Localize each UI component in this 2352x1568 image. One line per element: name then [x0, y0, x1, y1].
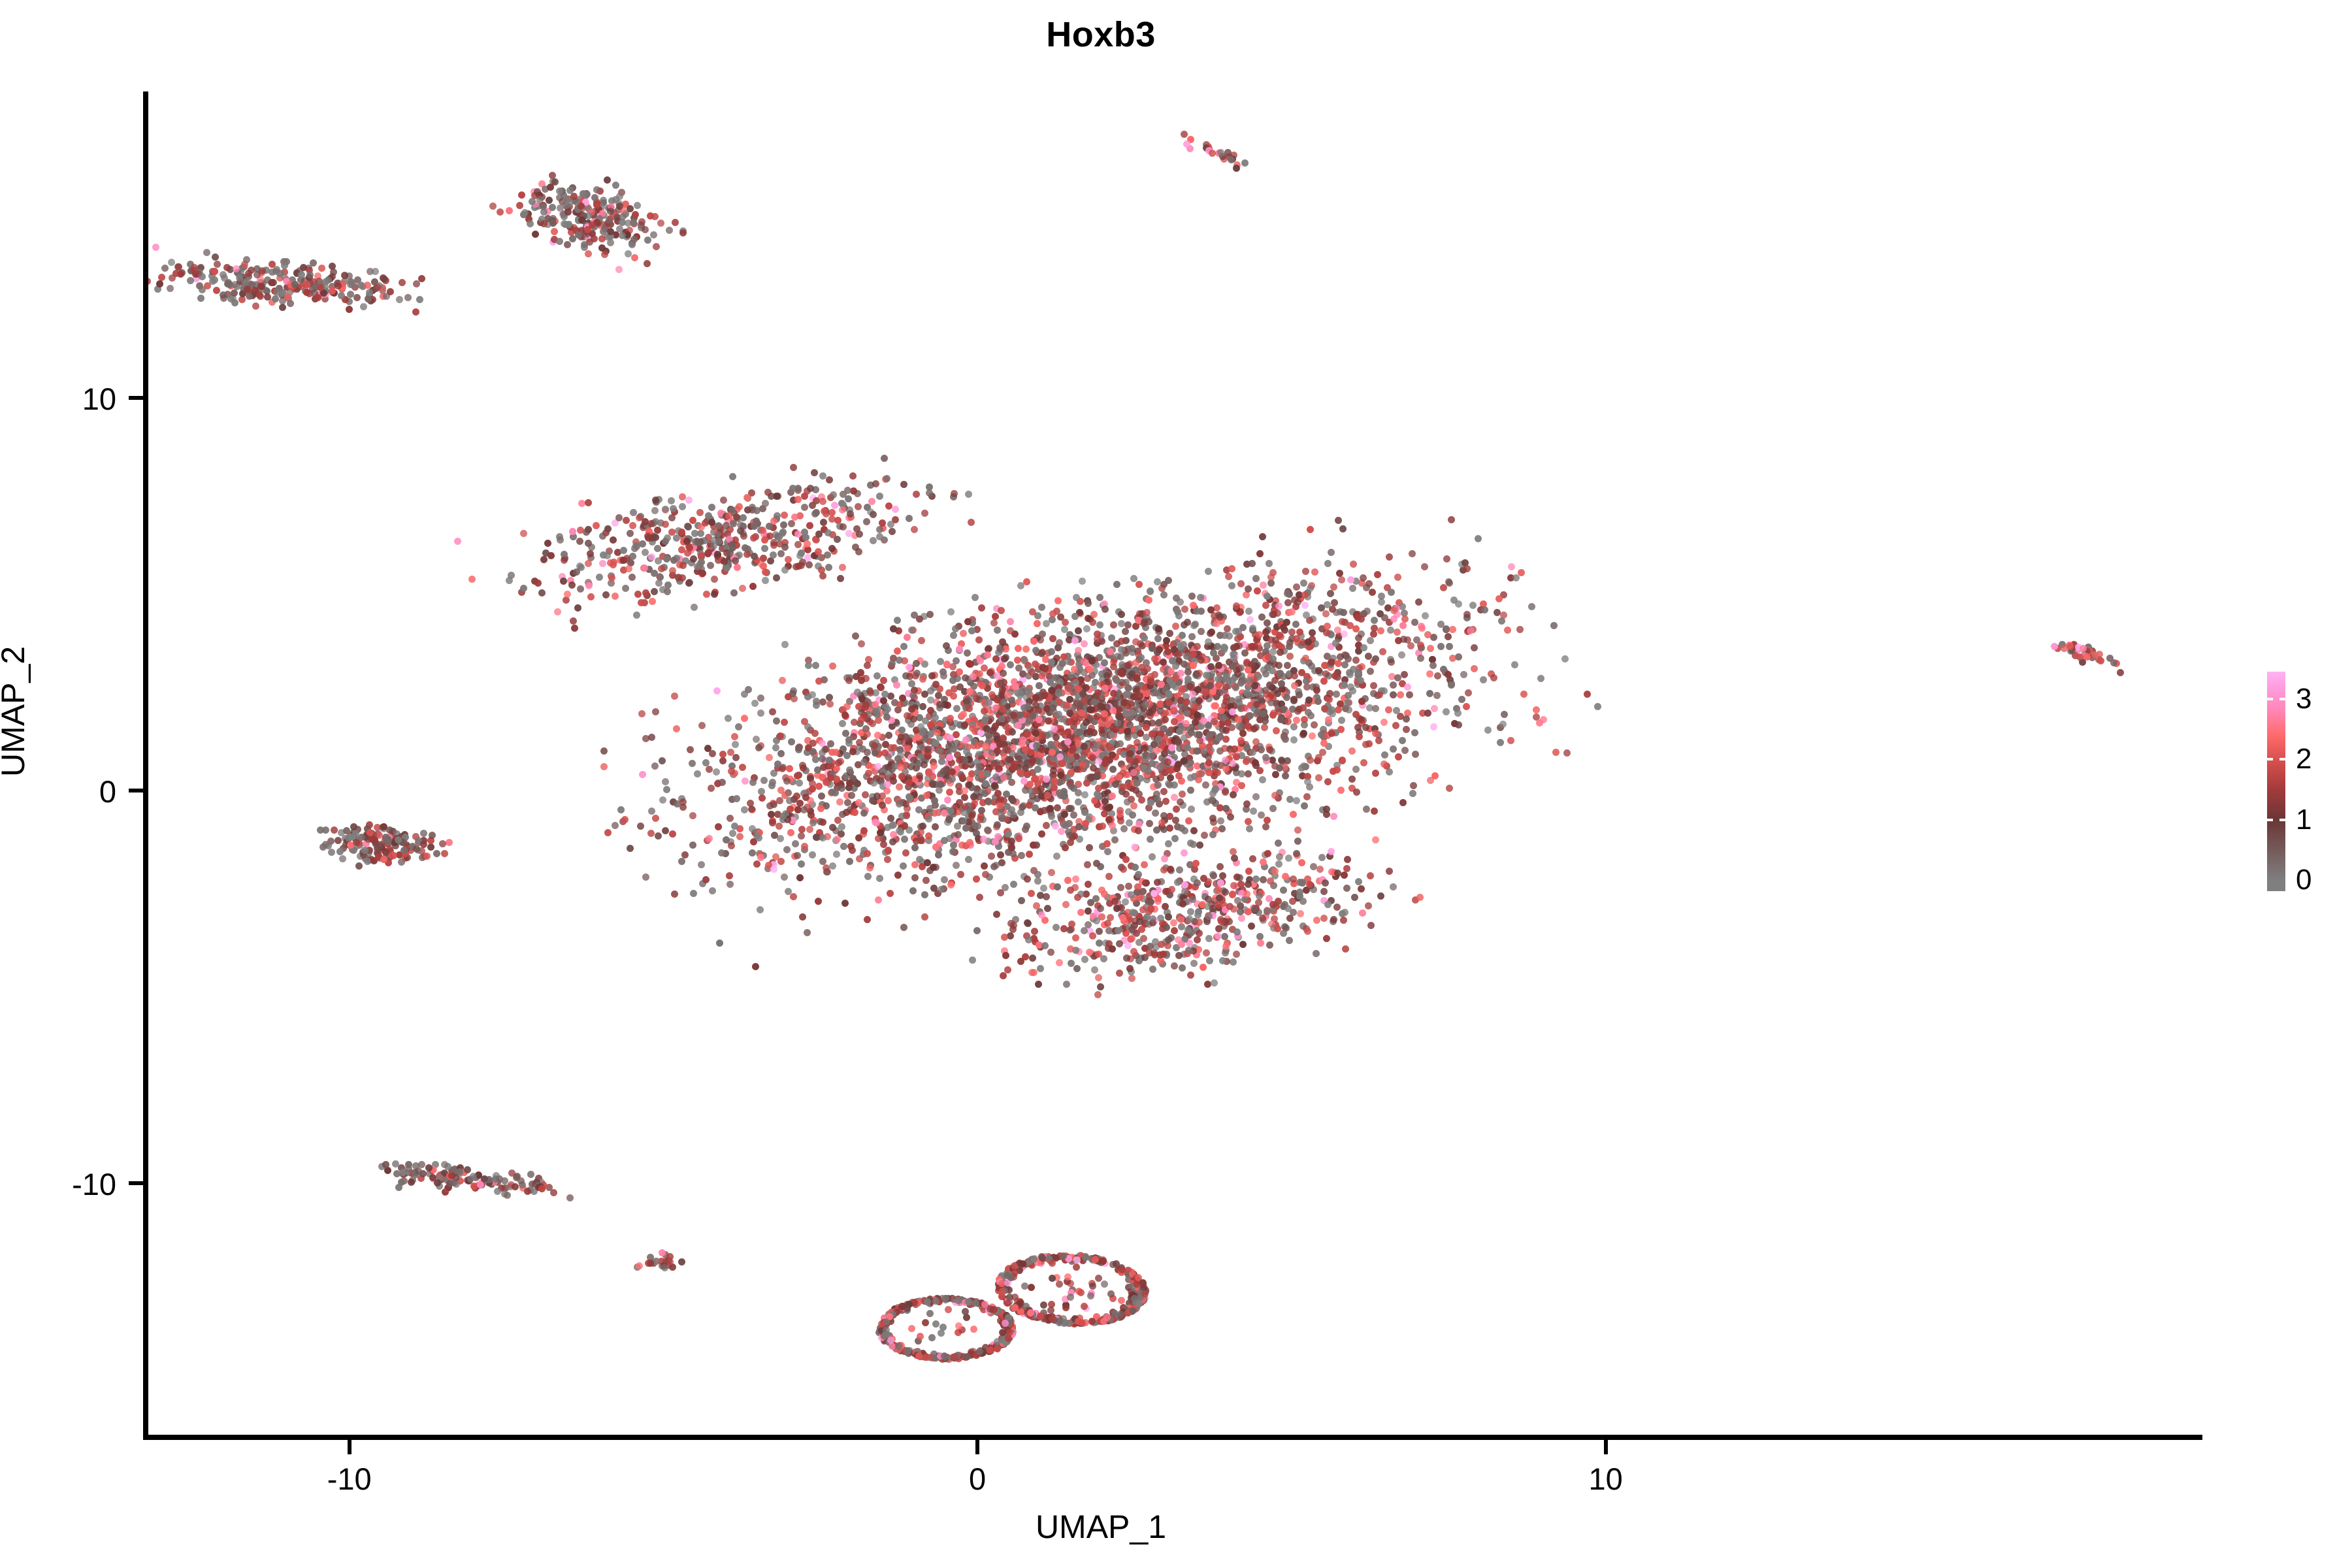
scatter-point: [1261, 724, 1268, 731]
scatter-point: [1100, 739, 1107, 746]
scatter-point: [795, 563, 802, 570]
scatter-point: [1181, 621, 1188, 629]
scatter-point: [1321, 705, 1328, 712]
scatter-point: [1192, 621, 1199, 628]
scatter-point: [1079, 755, 1086, 762]
scatter-point: [1225, 573, 1232, 580]
scatter-point: [591, 194, 598, 201]
scatter-point: [1177, 643, 1184, 650]
scatter-point: [982, 743, 989, 750]
scatter-point: [1400, 636, 1407, 643]
scatter-point: [1207, 663, 1215, 670]
scatter-point: [1262, 670, 1269, 678]
scatter-point: [593, 186, 600, 193]
scatter-point: [985, 699, 992, 706]
scatter-point: [706, 766, 713, 773]
scatter-point: [1005, 830, 1012, 838]
scatter-point: [1053, 853, 1060, 860]
scatter-point: [1190, 662, 1197, 669]
scatter-point: [1370, 682, 1377, 689]
scatter-point: [819, 834, 826, 841]
scatter-point: [1445, 578, 1452, 585]
scatter-point: [273, 289, 280, 296]
scatter-point: [860, 827, 868, 834]
scatter-point: [1372, 655, 1379, 662]
scatter-point: [841, 900, 849, 907]
scatter-point: [807, 485, 814, 492]
scatter-point: [820, 764, 827, 771]
scatter-point: [995, 765, 1002, 772]
scatter-point: [900, 862, 907, 870]
scatter-point: [662, 827, 669, 834]
scatter-point: [839, 811, 846, 818]
scatter-point: [774, 760, 781, 768]
scatter-point: [279, 304, 286, 311]
scatter-point: [979, 682, 986, 689]
scatter-point: [554, 608, 561, 615]
scatter-point: [932, 714, 939, 721]
scatter-point: [921, 510, 928, 517]
scatter-point: [1377, 627, 1384, 634]
scatter-point: [950, 693, 957, 700]
scatter-point: [1089, 619, 1096, 626]
scatter-point: [1307, 585, 1314, 592]
scatter-point: [1401, 747, 1409, 754]
scatter-point: [1245, 608, 1252, 615]
scatter-point: [968, 519, 975, 526]
scatter-point: [1219, 727, 1226, 734]
scatter-point: [1171, 794, 1178, 801]
scatter-point: [1388, 659, 1395, 666]
scatter-point: [906, 673, 913, 680]
scatter-point: [1138, 796, 1145, 804]
scatter-point: [1222, 757, 1229, 764]
scatter-point: [994, 790, 1002, 797]
scatter-point: [1322, 670, 1330, 678]
scatter-point: [779, 813, 787, 820]
scatter-point: [1352, 766, 1360, 773]
scatter-point: [1272, 636, 1279, 644]
scatter-point: [1181, 131, 1188, 138]
scatter-point: [766, 754, 773, 761]
scatter-point: [1262, 754, 1269, 761]
scatter-point: [662, 778, 669, 785]
scatter-point: [921, 913, 928, 921]
scatter-point: [669, 830, 676, 838]
scatter-point: [585, 582, 593, 589]
scatter-point: [835, 759, 842, 766]
scatter-point: [928, 672, 936, 679]
scatter-point: [625, 565, 632, 572]
scatter-point: [829, 662, 836, 670]
scatter-point: [711, 591, 718, 598]
scatter-point: [1499, 721, 1507, 728]
scatter-point: [639, 540, 646, 547]
scatter-point: [670, 505, 677, 512]
scatter-point: [1202, 781, 1209, 789]
scatter-point: [838, 785, 845, 792]
scatter-point: [856, 531, 863, 538]
scatter-point: [1367, 922, 1375, 929]
scatter-point: [950, 841, 957, 849]
scatter-point: [520, 585, 527, 592]
scatter-point: [949, 848, 956, 855]
scatter-point: [1167, 767, 1174, 774]
scatter-point: [806, 522, 813, 529]
scatter-point: [777, 750, 785, 757]
scatter-point: [1303, 678, 1310, 685]
scatter-point: [625, 220, 632, 227]
scatter-point: [1318, 854, 1326, 861]
scatter-point: [1239, 624, 1247, 631]
scatter-point: [881, 455, 888, 462]
scatter-point: [941, 876, 948, 883]
scatter-point: [365, 295, 372, 302]
scatter-point: [1231, 745, 1238, 753]
scatter-point: [783, 846, 791, 853]
scatter-point: [1090, 611, 1098, 618]
scatter-point: [1090, 764, 1097, 772]
scatter-point: [1498, 617, 1505, 625]
scatter-point: [815, 531, 823, 538]
scatter-point: [642, 735, 649, 742]
scatter-point: [794, 852, 801, 859]
scatter-point: [593, 522, 600, 529]
scatter-point: [1137, 654, 1145, 661]
scatter-point: [1109, 792, 1116, 800]
scatter-point: [1394, 574, 1401, 581]
scatter-point: [561, 557, 568, 564]
scatter-point: [1078, 710, 1085, 717]
scatter-point: [781, 566, 789, 574]
scatter-point: [671, 693, 678, 700]
scatter-point: [843, 703, 851, 710]
scatter-point: [691, 604, 698, 611]
scatter-point: [965, 491, 972, 498]
scatter-point: [314, 294, 321, 301]
scatter-point: [683, 538, 691, 545]
scatter-point: [1229, 760, 1236, 767]
scatter-point: [1111, 836, 1119, 843]
scatter-point: [678, 529, 685, 536]
scatter-point: [727, 815, 734, 822]
scatter-point: [872, 701, 879, 708]
scatter-point: [1260, 581, 1267, 589]
scatter-point: [534, 188, 541, 195]
scatter-point: [815, 678, 823, 685]
scatter-point: [923, 877, 930, 884]
scatter-point: [1052, 823, 1059, 830]
scatter-point: [587, 593, 595, 600]
scatter-point: [973, 875, 980, 883]
scatter-point: [1018, 897, 1025, 904]
scatter-point: [1055, 689, 1062, 696]
scatter-point: [1330, 768, 1337, 775]
scatter-point: [1484, 727, 1492, 734]
scatter-point: [1371, 808, 1378, 815]
scatter-point: [1270, 611, 1277, 618]
scatter-point: [281, 262, 288, 269]
scatter-point: [1380, 760, 1388, 768]
scatter-point: [671, 890, 678, 898]
scatter-point: [875, 896, 882, 904]
scatter-point: [742, 777, 749, 785]
scatter-point: [1175, 772, 1183, 779]
scatter-point: [743, 494, 751, 501]
scatter-point: [994, 696, 1001, 704]
scatter-point: [347, 281, 354, 288]
scatter-point: [994, 627, 1001, 634]
scatter-point: [1043, 893, 1050, 900]
scatter-point: [840, 523, 847, 531]
scatter-point: [1353, 789, 1360, 796]
scatter-point: [233, 265, 240, 272]
scatter-point: [506, 577, 513, 584]
scatter-point: [1281, 627, 1288, 634]
scatter-point: [1305, 638, 1312, 645]
scatter-point: [1063, 702, 1070, 709]
scatter-point: [1049, 610, 1056, 617]
scatter-point: [962, 825, 970, 832]
scatter-point: [1386, 768, 1393, 776]
scatter-point: [627, 845, 634, 852]
scatter-point: [753, 860, 760, 868]
scatter-point: [786, 797, 793, 804]
scatter-point: [1277, 649, 1284, 656]
scatter-point: [1238, 782, 1245, 789]
scatter-point: [1107, 648, 1114, 655]
scatter-point: [1337, 787, 1345, 794]
scatter-point: [1501, 711, 1508, 718]
scatter-points-layer: [148, 91, 2202, 1435]
scatter-point: [1267, 574, 1275, 581]
scatter-point: [719, 757, 727, 764]
scatter-point: [1360, 644, 1367, 651]
scatter-point: [1424, 631, 1431, 638]
scatter-point: [1048, 659, 1055, 666]
scatter-point: [1160, 826, 1168, 833]
scatter-point: [1528, 603, 1535, 610]
scatter-point: [755, 744, 762, 751]
scatter-point: [616, 193, 623, 200]
scatter-point: [556, 238, 563, 245]
scatter-point: [759, 527, 766, 534]
scatter-point: [374, 284, 381, 291]
scatter-point: [1341, 630, 1348, 638]
scatter-point: [800, 806, 808, 813]
scatter-point: [1392, 722, 1399, 729]
scatter-point: [1394, 629, 1401, 636]
scatter-point: [645, 534, 652, 542]
scatter-point: [770, 539, 777, 546]
scatter-point: [1264, 642, 1271, 649]
scatter-point: [627, 530, 634, 537]
scatter-point: [773, 574, 780, 581]
scatter-point: [1205, 935, 1213, 942]
scatter-point: [846, 766, 853, 774]
scatter-point: [1390, 681, 1397, 689]
scatter-point: [974, 742, 981, 749]
scatter-point: [387, 288, 394, 295]
scatter-point: [1303, 612, 1310, 619]
scatter-point: [1299, 731, 1307, 738]
scatter-point: [329, 287, 336, 295]
scatter-point: [716, 939, 723, 947]
scatter-point: [994, 821, 1001, 828]
scatter-point: [812, 662, 819, 669]
scatter-point: [1096, 594, 1103, 601]
scatter-point: [1290, 811, 1297, 818]
scatter-point: [949, 776, 956, 783]
scatter-point: [1256, 631, 1263, 638]
scatter-point: [1320, 678, 1328, 685]
scatter-point: [564, 241, 571, 248]
scatter-point: [708, 519, 715, 526]
scatter-point: [1083, 779, 1090, 787]
scatter-point: [604, 829, 612, 836]
scatter-point: [675, 574, 682, 581]
scatter-point: [984, 651, 991, 659]
scatter-point: [864, 730, 871, 738]
scatter-point: [520, 530, 527, 537]
scatter-point: [766, 523, 773, 530]
scatter-point: [252, 287, 259, 294]
scatter-point: [1294, 708, 1301, 715]
scatter-point: [755, 834, 762, 841]
scatter-point: [1190, 960, 1198, 967]
scatter-point: [616, 203, 623, 210]
scatter-point: [1038, 830, 1045, 838]
scatter-point: [1038, 604, 1045, 611]
scatter-point: [1198, 628, 1205, 635]
scatter-point: [1081, 956, 1088, 963]
scatter-point: [1222, 676, 1229, 683]
scatter-point: [997, 646, 1004, 653]
scatter-point: [651, 507, 659, 514]
scatter-point: [1214, 769, 1221, 776]
scatter-point: [1096, 928, 1103, 935]
scatter-point: [728, 842, 735, 849]
scatter-point: [881, 749, 889, 757]
scatter-point: [809, 819, 817, 826]
scatter-point: [600, 763, 608, 770]
scatter-point: [849, 847, 856, 854]
scatter-point: [975, 636, 983, 644]
scatter-point: [741, 806, 748, 813]
scatter-point: [992, 613, 999, 620]
scatter-point: [1245, 770, 1252, 777]
scatter-point: [749, 849, 756, 857]
scatter-point: [668, 497, 675, 504]
scatter-point: [1075, 647, 1082, 654]
scatter-point: [547, 184, 554, 191]
scatter-point: [753, 517, 760, 525]
scatter-point: [770, 801, 777, 808]
scatter-point: [936, 787, 943, 794]
scatter-point: [694, 770, 701, 777]
scatter-point: [269, 279, 276, 286]
scatter-point: [1507, 737, 1514, 744]
scatter-point: [233, 283, 240, 290]
scatter-point: [874, 763, 881, 770]
scatter-point: [1069, 747, 1076, 754]
scatter-point: [906, 664, 913, 671]
scatter-point: [953, 862, 960, 869]
scatter-point: [864, 873, 872, 880]
scatter-point: [666, 227, 673, 234]
scatter-point: [874, 732, 881, 739]
scatter-point: [762, 500, 769, 507]
scatter-point: [1167, 774, 1174, 781]
scatter-point: [658, 565, 665, 572]
scatter-point: [1237, 881, 1245, 888]
scatter-point: [858, 677, 865, 684]
scatter-point: [589, 221, 596, 229]
scatter-point: [214, 261, 221, 268]
scatter-point: [364, 282, 371, 289]
scatter-point: [918, 637, 925, 644]
scatter-point: [1103, 704, 1111, 711]
scatter-point: [876, 875, 883, 882]
scatter-point: [900, 924, 907, 931]
scatter-point: [864, 749, 871, 756]
scatter-point: [638, 218, 645, 225]
scatter-point: [705, 512, 712, 519]
scatter-point: [1094, 689, 1102, 696]
scatter-point: [1330, 583, 1337, 591]
scatter-point: [1401, 671, 1408, 678]
scatter-point: [1403, 726, 1410, 733]
scatter-point: [1194, 686, 1201, 693]
scatter-point: [1246, 825, 1253, 832]
scatter-point: [211, 268, 218, 275]
scatter-point: [1454, 710, 1462, 717]
scatter-point: [1008, 779, 1015, 786]
scatter-point: [573, 568, 580, 576]
scatter-point: [760, 555, 767, 562]
scatter-point: [999, 706, 1006, 713]
scatter-point: [1023, 823, 1030, 830]
scatter-point: [1354, 614, 1362, 621]
scatter-point: [1284, 599, 1292, 606]
scatter-point: [877, 829, 884, 836]
scatter-point: [1051, 725, 1058, 732]
scatter-point: [752, 963, 759, 970]
scatter-point: [1149, 853, 1156, 860]
scatter-point: [1341, 661, 1348, 668]
scatter-point: [958, 773, 966, 780]
scatter-point: [1431, 705, 1438, 712]
scatter-point: [1125, 685, 1132, 692]
scatter-point: [1409, 790, 1416, 797]
scatter-point: [976, 894, 983, 901]
scatter-point: [1463, 611, 1471, 618]
scatter-point: [1045, 717, 1052, 725]
scatter-point: [719, 751, 727, 758]
scatter-point: [1284, 718, 1292, 725]
scatter-point: [787, 806, 794, 813]
scatter-point: [698, 552, 705, 559]
scatter-point: [1316, 866, 1324, 873]
scatter-point: [1333, 691, 1340, 698]
scatter-point: [820, 519, 827, 526]
scatter-point: [637, 823, 644, 830]
scatter-point: [1021, 777, 1028, 785]
scatter-point: [728, 768, 735, 775]
scatter-point: [815, 783, 823, 790]
scatter-point: [777, 858, 785, 865]
scatter-point: [1275, 708, 1282, 715]
